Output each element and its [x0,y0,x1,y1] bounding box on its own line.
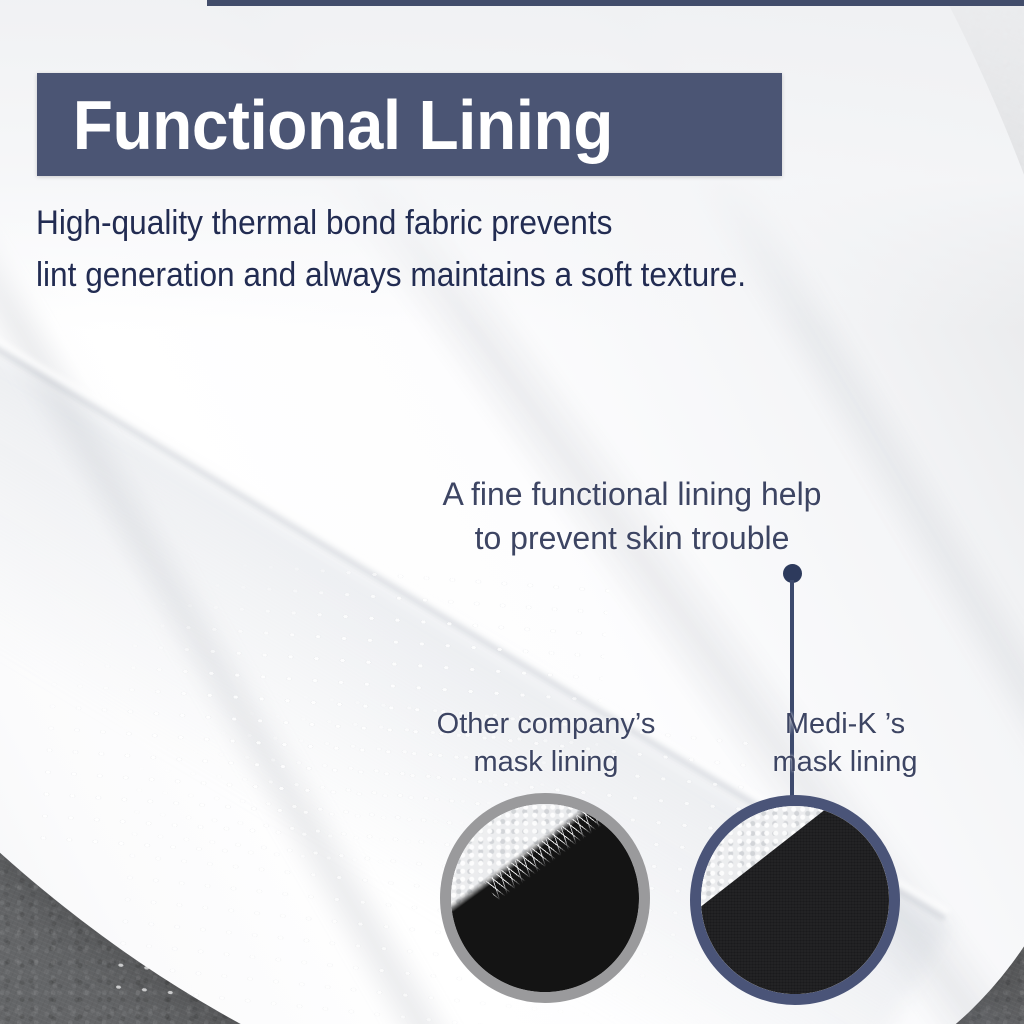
subtitle-line-1: High-quality thermal bond fabric prevent… [36,198,873,250]
callout-line-1: A fine functional lining help [372,472,892,516]
label-other-company: Other company’s mask lining [401,706,691,781]
callout-block: A fine functional lining help to prevent… [372,472,892,560]
page-title: Functional Lining [37,90,613,160]
callout-line-2: to prevent skin trouble [372,516,892,560]
black-backing-layer [440,793,650,1003]
label-medi-k-line-2: mask lining [700,744,990,782]
title-banner: Functional Lining [37,73,782,176]
subtitle-block: High-quality thermal bond fabric prevent… [36,198,873,301]
fabric-closeup-other-company [451,804,639,992]
label-medi-k: Medi-K ’s mask lining [700,706,990,781]
label-other-company-line-2: mask lining [401,744,691,782]
black-backing-layer [690,795,900,1005]
zoom-circle-medi-k [690,795,900,1005]
fabric-closeup-medi-k [701,806,889,994]
product-infographic: Functional Lining High-quality thermal b… [0,0,1024,1024]
label-medi-k-line-1: Medi-K ’s [700,706,990,744]
label-other-company-line-1: Other company’s [401,706,691,744]
top-accent-strip [207,0,1024,6]
subtitle-line-2: lint generation and always maintains a s… [36,250,873,302]
zoom-circle-other-company [440,793,650,1003]
